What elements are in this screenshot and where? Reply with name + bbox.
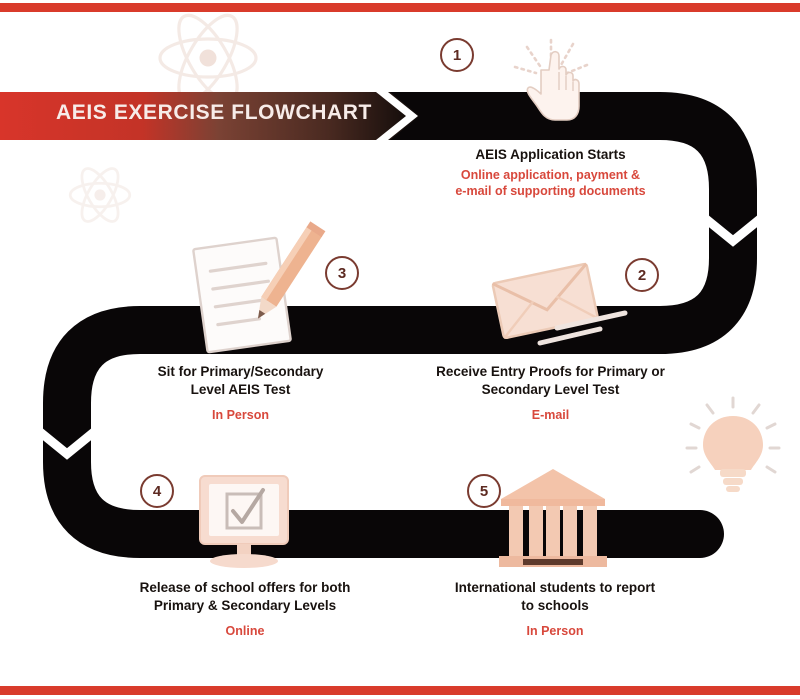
step-5-title: International students to report to scho… [430, 579, 680, 615]
step-3-mode: In Person [118, 408, 363, 422]
step-label-2: Receive Entry Proofs for Primary or Seco… [418, 363, 683, 422]
step-1-subtitle: Online application, payment & e-mail of … [418, 167, 683, 200]
step-badge-3: 3 [325, 256, 359, 290]
envelope-icon [492, 264, 598, 339]
aeis-flowchart-infographic: AEIS EXERCISE FLOWCHART [0, 0, 800, 699]
step-2-mode: E-mail [418, 408, 683, 422]
step-3-title: Sit for Primary/Secondary Level AEIS Tes… [118, 363, 363, 399]
school-building-icon [499, 469, 607, 567]
monitor-checkmark-icon [200, 476, 288, 568]
step-badge-1: 1 [440, 38, 474, 72]
step-label-3: Sit for Primary/Secondary Level AEIS Tes… [118, 363, 363, 422]
tap-hand-icon [515, 40, 587, 120]
step-badge-2: 2 [625, 258, 659, 292]
step-badge-5: 5 [467, 474, 501, 508]
step-label-1: AEIS Application Starts Online applicati… [418, 146, 683, 199]
page-title: AEIS EXERCISE FLOWCHART [56, 101, 372, 125]
step-2-title: Receive Entry Proofs for Primary or Seco… [418, 363, 683, 399]
step-5-mode: In Person [430, 624, 680, 638]
step-label-4: Release of school offers for both Primar… [120, 579, 370, 638]
step-1-title: AEIS Application Starts [418, 146, 683, 164]
step-badge-4: 4 [140, 474, 174, 508]
step-4-mode: Online [120, 624, 370, 638]
step-4-title: Release of school offers for both Primar… [120, 579, 370, 615]
step-label-5: International students to report to scho… [430, 579, 680, 638]
